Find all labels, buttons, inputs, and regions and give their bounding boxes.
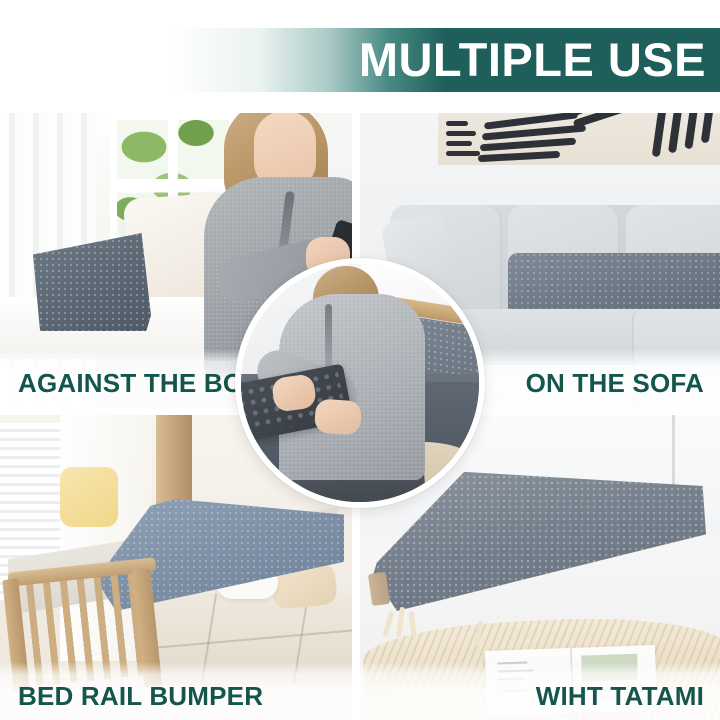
floor-mat (150, 593, 352, 685)
caption-on-the-sofa: ON THE SOFA (526, 368, 704, 399)
wall-art (438, 113, 720, 165)
photo-center-inset (241, 264, 479, 502)
crib-rail (8, 565, 156, 693)
page-title: MULTIPLE USE (359, 29, 706, 91)
caption-wiht-tatami: WIHT TATAMI (536, 681, 704, 712)
hand (314, 398, 362, 435)
caption-bed-rail-bumper: BED RAIL BUMPER (18, 681, 263, 712)
tassel (409, 611, 417, 637)
yellow-pillow (60, 467, 118, 527)
center-circle-inset[interactable] (235, 258, 485, 508)
product-bolster-pillow (508, 253, 720, 313)
infographic-root: MULTIPLE USE AG (0, 0, 720, 720)
tassel (396, 607, 405, 637)
tassel (383, 611, 395, 637)
